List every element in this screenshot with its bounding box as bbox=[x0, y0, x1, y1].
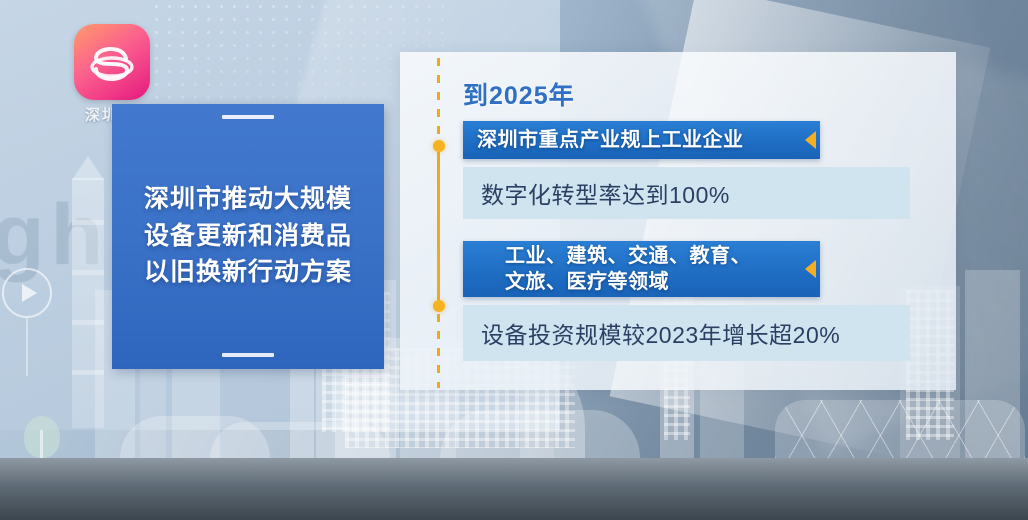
headline-panel: 深圳市推动大规模 设备更新和消费品 以旧换新行动方案 bbox=[112, 104, 384, 369]
fact-text-2: 设备投资规模较2023年增长超20% bbox=[481, 316, 840, 350]
chevron-left-icon-1 bbox=[805, 131, 816, 149]
category-banner-2-label: 工业、建筑、交通、教育、 文旅、医疗等领域 bbox=[505, 243, 751, 296]
chevron-left-icon-2 bbox=[805, 260, 816, 278]
category-banner-1-label: 深圳市重点产业规上工业企业 bbox=[477, 127, 744, 153]
ground-band bbox=[0, 458, 1028, 520]
broadcast-graphic-stage: gh bbox=[0, 0, 1028, 520]
category-banner-1: 深圳市重点产业规上工业企业 bbox=[463, 121, 820, 159]
category-banner-2: 工业、建筑、交通、教育、 文旅、医疗等领域 bbox=[463, 241, 820, 297]
fact-box-2: 设备投资规模较2023年增长超20% bbox=[463, 305, 910, 361]
timeline-dot-1 bbox=[433, 140, 445, 152]
panel-dash-bottom bbox=[222, 353, 274, 357]
panel-dash-top bbox=[222, 115, 274, 119]
headline-line-3: 以旧换新行动方案 bbox=[144, 254, 352, 291]
headline-line-1: 深圳市推动大规模 bbox=[144, 181, 352, 218]
headline-text: 深圳市推动大规模 设备更新和消费品 以旧换新行动方案 bbox=[144, 181, 352, 291]
content-column: 到2025年 深圳市重点产业规上工业企业 数字化转型率达到100% 工业、建筑、… bbox=[463, 76, 923, 361]
timeline-rail bbox=[437, 58, 441, 388]
year-heading: 到2025年 bbox=[463, 76, 923, 112]
fact-box-1: 数字化转型率达到100% bbox=[463, 167, 910, 219]
headline-line-2: 设备更新和消费品 bbox=[144, 218, 352, 255]
tree-trunk bbox=[40, 430, 43, 458]
timeline-dot-2 bbox=[433, 300, 445, 312]
fact-text-1: 数字化转型率达到100% bbox=[481, 176, 730, 210]
shenzhen-tv-s-logo-icon bbox=[74, 24, 150, 100]
